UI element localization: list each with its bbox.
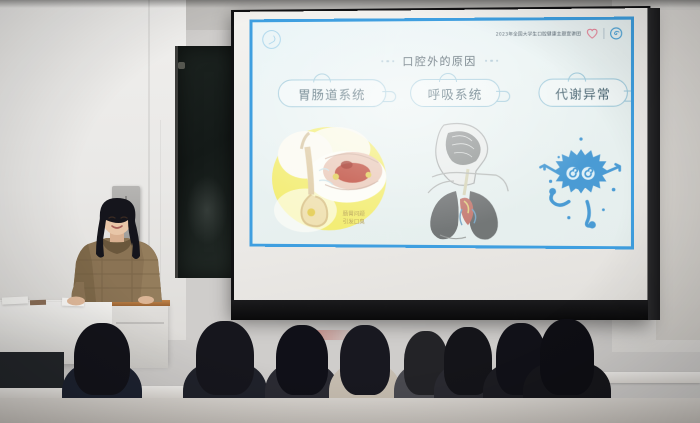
topic-label-metabolic: 代谢异常 [555, 83, 611, 102]
right-dots [485, 59, 499, 62]
floor-riser [0, 398, 700, 423]
swoosh-circle-logo [262, 30, 281, 49]
chalkboard-clip [178, 62, 185, 69]
slide-header-bar: 2023年全国大学生口腔健康主题宣讲团 [496, 27, 623, 41]
illustration-caption-gastro: 肠胃问题 引发口臭 [343, 211, 365, 227]
topic-cloud-gastro: 胃肠道系统 [278, 79, 386, 107]
chalkboard-smudge [186, 175, 228, 245]
object-on-lectern [30, 300, 46, 306]
lectern-seam [116, 322, 164, 324]
projection-screen-bottom-frame [231, 300, 650, 320]
topic-cloud-respiratory: 呼吸系统 [410, 79, 500, 107]
blue-germ-character-illustration [532, 133, 630, 230]
topic-label-gastro: 胃肠道系统 [298, 84, 365, 103]
caption-line-1: 肠胃问题 [343, 211, 365, 219]
dark-alcove [0, 352, 64, 388]
left-dots [381, 60, 395, 63]
presenter [62, 198, 172, 316]
right-wall-lower [656, 10, 700, 340]
page-title: 口腔外的原因 [402, 53, 476, 69]
topic-cloud-metabolic: 代谢异常 [538, 78, 627, 106]
head-lungs-anatomy-illustration [410, 117, 516, 244]
header-divider [603, 28, 604, 39]
bench-row-right [600, 372, 700, 383]
wall-pillar [648, 8, 660, 320]
topic-label-respiratory: 呼吸系统 [428, 83, 483, 102]
eye-swirl-logo [610, 27, 623, 40]
student-head [196, 321, 254, 395]
slide-header-text: 2023年全国大学生口腔健康主题宣讲团 [496, 31, 581, 38]
student-head [540, 319, 594, 395]
papers-on-lectern [2, 296, 28, 304]
stomach-esophagus-illustration: 肠胃问题 引发口臭 [268, 119, 396, 237]
projected-slide: 2023年全国大学生口腔健康主题宣讲团 口腔外的原因 胃肠道系统 呼吸系统 [250, 17, 634, 250]
topic-cloud-row: 胃肠道系统 呼吸系统 代谢异常 [252, 78, 630, 121]
heart-outline-icon [586, 28, 598, 39]
student-head [340, 325, 390, 395]
student-head [276, 325, 328, 395]
student-head [74, 323, 130, 395]
caption-line-2: 引发口臭 [343, 218, 365, 226]
lecture-hall-screenshot: 2023年全国大学生口腔健康主题宣讲团 口腔外的原因 胃肠道系统 呼吸系统 [0, 0, 700, 423]
slide-title-row: 口腔外的原因 [252, 52, 630, 70]
